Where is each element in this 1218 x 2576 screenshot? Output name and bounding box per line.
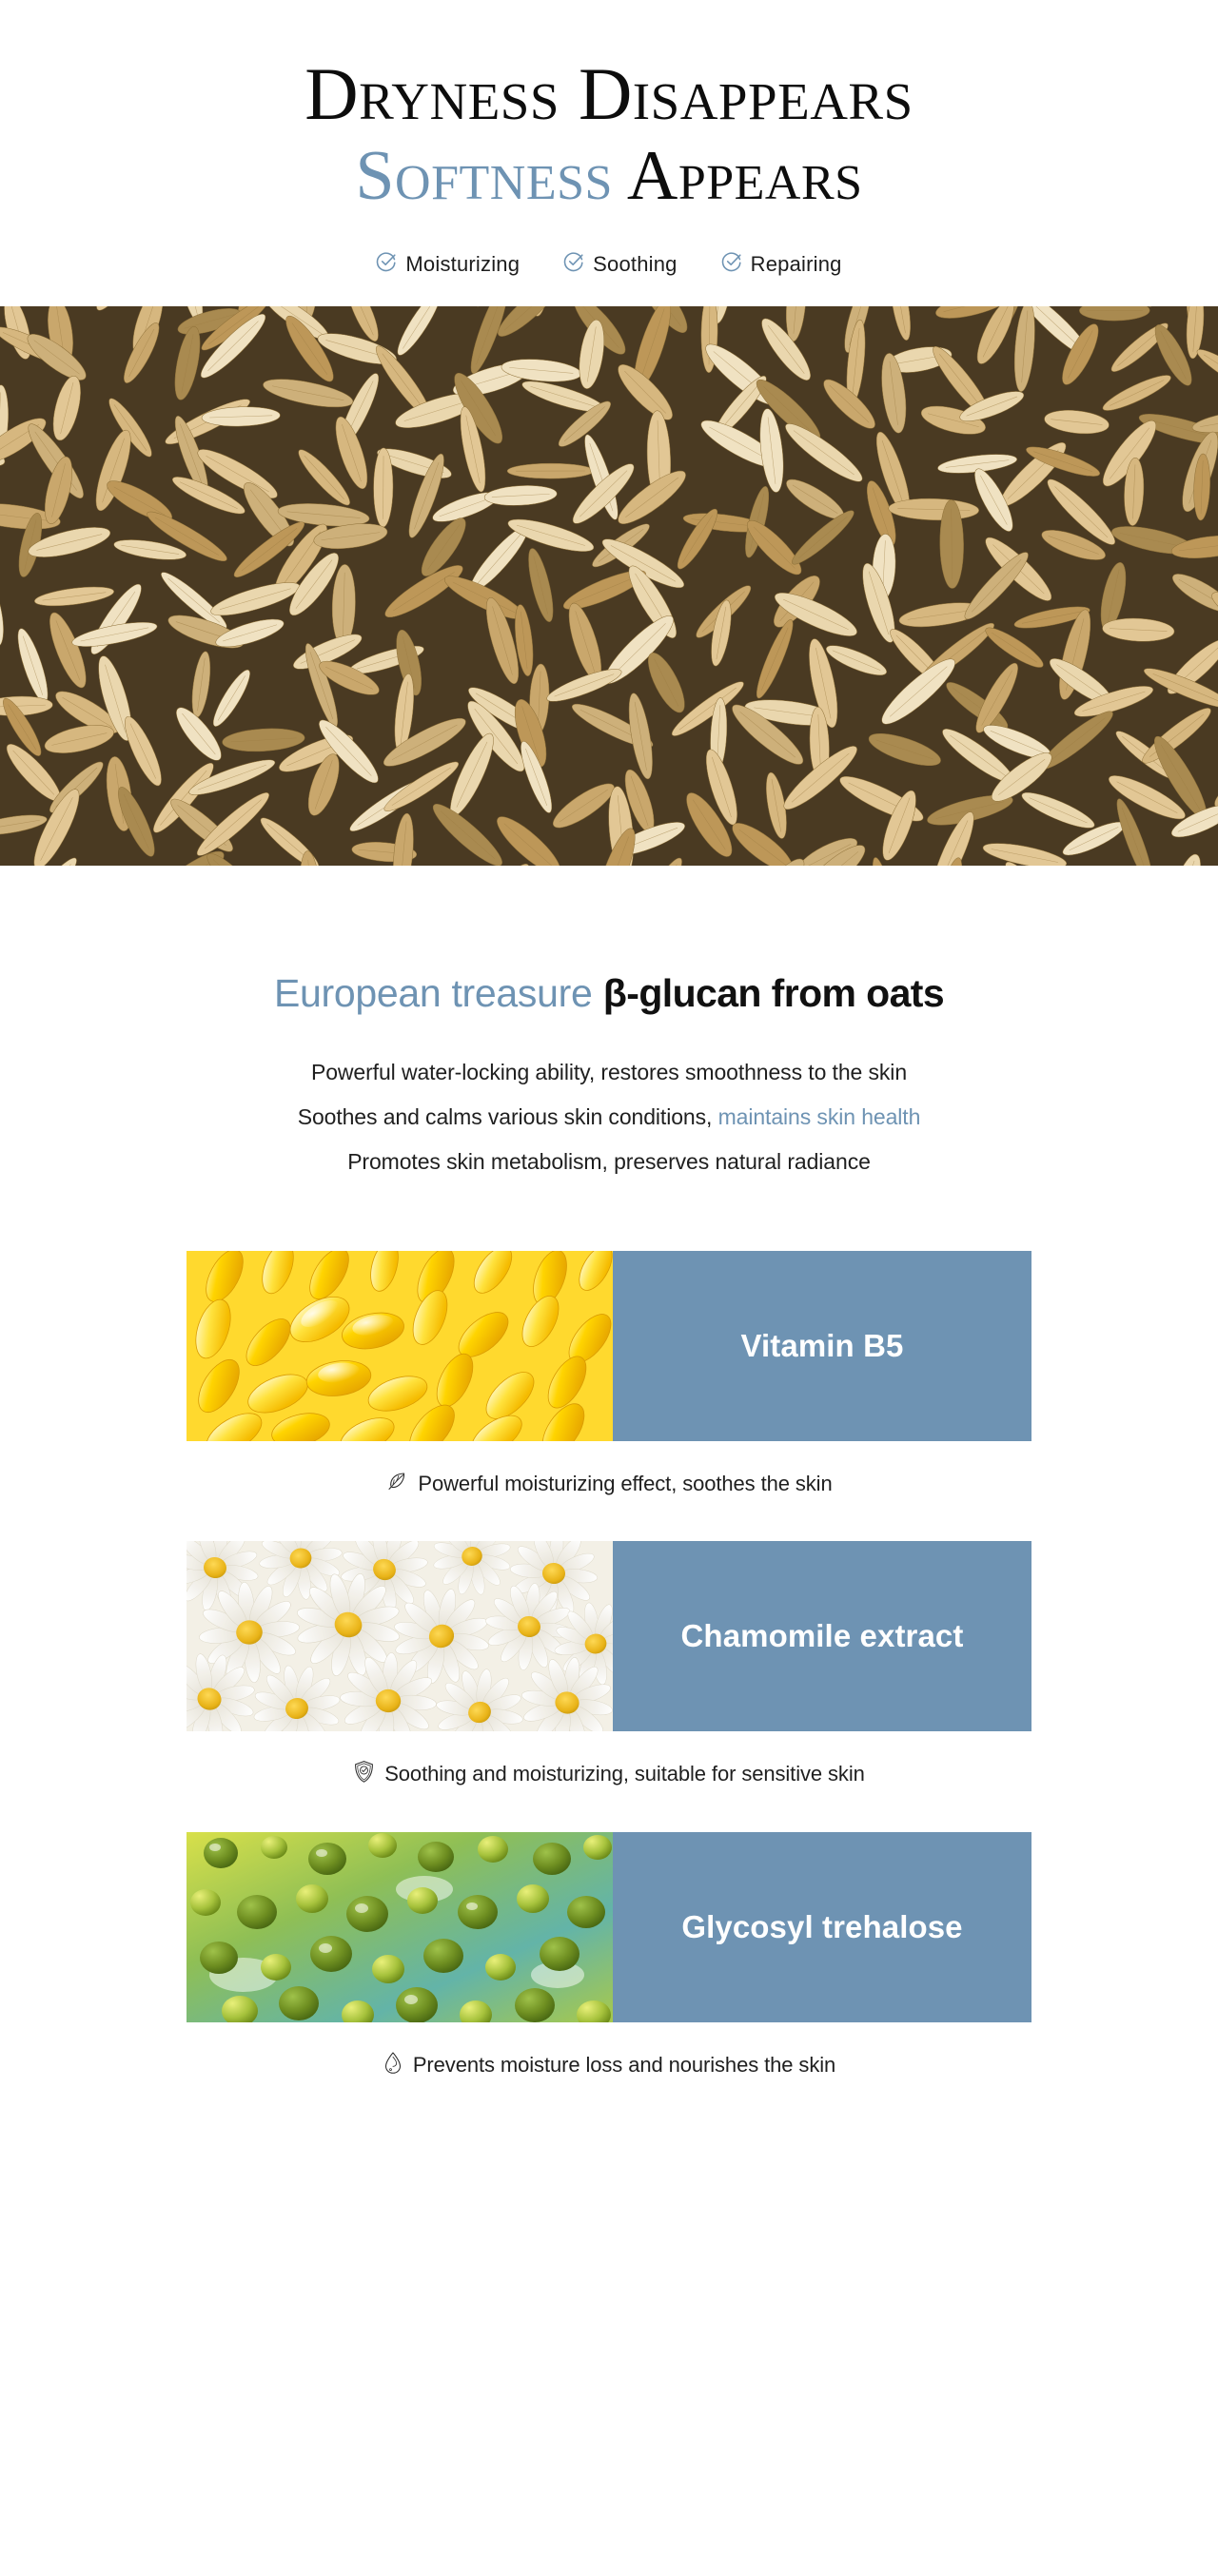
beta-glucan-line: Promotes skin metabolism, preserves natu…: [0, 1151, 1218, 1173]
ingredient-card[interactable]: Vitamin B5: [187, 1251, 1031, 1441]
beta-glucan-section: European treasure β-glucan from oats Pow…: [0, 970, 1218, 1173]
ingredient-card-list: Vitamin B5 Powerful moisturizing effect,…: [0, 1251, 1218, 2123]
ingredient-title: Chamomile extract: [681, 1618, 964, 1654]
ingredient-caption: Soothing and moisturizing, suitable for …: [384, 1762, 865, 1786]
product-detail-page: Dryness Disappears Softness Appears Mois…: [0, 0, 1218, 2576]
check-circle-icon: [563, 251, 584, 277]
ingredient-card[interactable]: Chamomile extract: [187, 1541, 1031, 1731]
page-title-line-2: Softness Appears: [0, 140, 1218, 213]
water-drop-icon: [383, 2051, 403, 2079]
ingredient-block-chamomile-extract: Chamomile extract Soothing and moisturiz…: [0, 1541, 1218, 1832]
benefit-badge-soothing: Soothing: [563, 251, 677, 277]
check-circle-icon: [721, 251, 742, 277]
page-title-line-2-rest: Appears: [613, 137, 863, 215]
beta-glucan-body: Powerful water-locking ability, restores…: [0, 1062, 1218, 1173]
page-title-accent-word: Softness: [355, 137, 613, 215]
hero-header: Dryness Disappears Softness Appears Mois…: [0, 0, 1218, 277]
benefit-badge-row: Moisturizing Soothing: [0, 251, 1218, 277]
shield-check-icon: [353, 1760, 375, 1788]
page-title-line-1: Dryness Disappears: [0, 55, 1218, 132]
ingredient-caption: Prevents moisture loss and nourishes the…: [413, 2053, 835, 2078]
ingredient-title-panel: Glycosyl trehalose: [613, 1832, 1031, 2022]
beta-glucan-line: Soothes and calms various skin condition…: [0, 1106, 1218, 1128]
benefit-badge-repairing: Repairing: [721, 251, 842, 277]
ingredient-block-glycosyl-trehalose: Glycosyl trehalose Prevents moisture los…: [0, 1832, 1218, 2123]
beta-glucan-line-accent: maintains skin health: [718, 1104, 921, 1129]
ingredient-title-panel: Vitamin B5: [613, 1251, 1031, 1441]
chamomile-flowers-photo: [187, 1541, 613, 1731]
beta-glucan-heading-prefix: European treasure: [274, 971, 593, 1015]
beta-glucan-line-text: Soothes and calms various skin condition…: [298, 1104, 718, 1129]
ingredient-title: Vitamin B5: [741, 1328, 904, 1364]
ingredient-caption-row: Powerful moisturizing effect, soothes th…: [0, 1470, 1218, 1497]
ingredient-title: Glycosyl trehalose: [681, 1909, 962, 1945]
ingredient-caption-row: Soothing and moisturizing, suitable for …: [0, 1760, 1218, 1788]
beta-glucan-line-text: Promotes skin metabolism, preserves natu…: [347, 1149, 871, 1174]
ingredient-caption-row: Prevents moisture loss and nourishes the…: [0, 2051, 1218, 2079]
ingredient-title-panel: Chamomile extract: [613, 1541, 1031, 1731]
benefit-badge-label: Soothing: [593, 252, 677, 277]
beta-glucan-heading: European treasure β-glucan from oats: [0, 970, 1218, 1017]
oat-grain-layer: [0, 306, 1218, 866]
feather-icon: [385, 1470, 408, 1497]
benefit-badge-label: Repairing: [751, 252, 842, 277]
glycosyl-trehalose-bubbles-photo: [187, 1832, 613, 2022]
beta-glucan-line-text: Powerful water-locking ability, restores…: [311, 1060, 907, 1084]
vitamin-b5-capsules-photo: [187, 1251, 613, 1441]
beta-glucan-line: Powerful water-locking ability, restores…: [0, 1062, 1218, 1083]
oat-grains-hero-image: [0, 306, 1218, 866]
ingredient-card[interactable]: Glycosyl trehalose: [187, 1832, 1031, 2022]
benefit-badge-moisturizing: Moisturizing: [376, 251, 520, 277]
ingredient-block-vitamin-b5: Vitamin B5 Powerful moisturizing effect,…: [0, 1251, 1218, 1541]
check-circle-icon: [376, 251, 397, 277]
ingredient-caption: Powerful moisturizing effect, soothes th…: [418, 1472, 832, 1496]
beta-glucan-heading-main: β-glucan from oats: [603, 971, 944, 1015]
benefit-badge-label: Moisturizing: [405, 252, 520, 277]
